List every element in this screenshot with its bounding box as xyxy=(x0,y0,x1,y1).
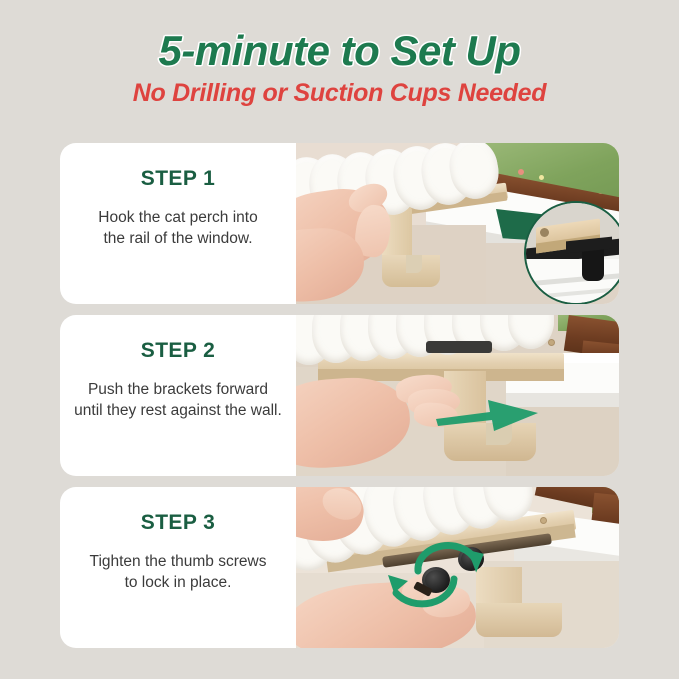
header: 5-minute to Set Up No Drilling or Suctio… xyxy=(0,0,679,106)
step-3-description: Tighten the thumb screws to lock in plac… xyxy=(72,552,284,593)
step-3-text: STEP 3 Tighten the thumb screws to lock … xyxy=(60,487,296,648)
step-2-direction-arrow xyxy=(434,393,544,437)
step-1-description-line-2: the rail of the window. xyxy=(72,229,284,250)
step-2-description: Push the brackets forward until they res… xyxy=(72,380,284,421)
step-card-2: STEP 2 Push the brackets forward until t… xyxy=(60,315,619,476)
step-1-description: Hook the cat perch into the rail of the … xyxy=(72,208,284,249)
step-3-description-line-2: to lock in place. xyxy=(72,573,284,594)
page-title: 5-minute to Set Up xyxy=(0,30,679,72)
step-card-3: STEP 3 Tighten the thumb screws to lock … xyxy=(60,487,619,648)
step-1-title: STEP 1 xyxy=(72,167,284,190)
step-2-description-line-2: until they rest against the wall. xyxy=(72,401,284,422)
step-1-photo xyxy=(296,143,619,304)
step-1-text: STEP 1 Hook the cat perch into the rail … xyxy=(60,143,296,304)
steps-list: STEP 1 Hook the cat perch into the rail … xyxy=(60,143,619,659)
step-card-1: STEP 1 Hook the cat perch into the rail … xyxy=(60,143,619,304)
step-2-text: STEP 2 Push the brackets forward until t… xyxy=(60,315,296,476)
step-3-title: STEP 3 xyxy=(72,511,284,534)
step-2-photo xyxy=(296,315,619,476)
step-2-title: STEP 2 xyxy=(72,339,284,362)
step-2-description-line-1: Push the brackets forward xyxy=(72,380,284,401)
step-3-description-line-1: Tighten the thumb screws xyxy=(72,552,284,573)
step-1-detail-inset xyxy=(524,201,619,304)
step-3-photo xyxy=(296,487,619,648)
step-3-rotation-arrow-lower xyxy=(380,563,466,609)
page-subtitle: No Drilling or Suction Cups Needed xyxy=(0,81,679,106)
step-1-description-line-1: Hook the cat perch into xyxy=(72,208,284,229)
